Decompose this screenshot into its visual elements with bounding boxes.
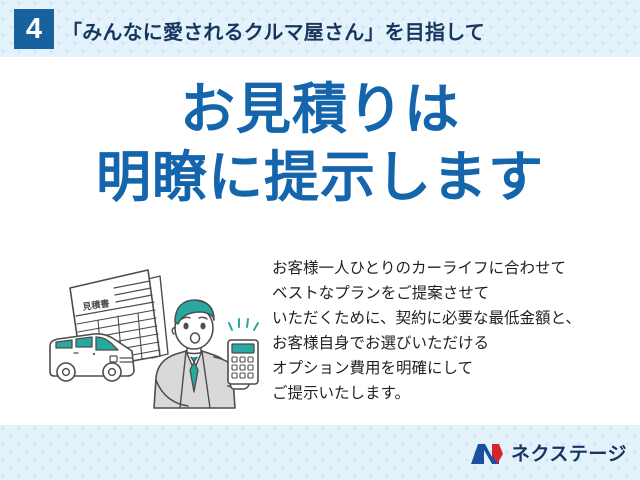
salesman-illustration: 見積書 — [36, 258, 276, 418]
headline-line-2: 明瞭に提示します — [0, 146, 640, 210]
headline-line-1: お見積りは — [0, 78, 640, 142]
banner-page: 4 「みんなに愛されるクルマ屋さん」を目指して お見積りは 明瞭に提示します お… — [0, 0, 640, 480]
page-headline: お見積りは 明瞭に提示します — [0, 78, 640, 210]
header-title: 「みんなに愛されるクルマ屋さん」を目指して — [62, 14, 622, 46]
brand-logo: ネクステージ — [470, 441, 627, 467]
brand-name-label: ネクステージ — [511, 445, 627, 464]
body-copy-line: お客様自身でお選びいただける — [272, 331, 632, 356]
calculator-illustration — [228, 340, 258, 384]
illustration-canvas: 見積書 — [36, 258, 276, 418]
body-copy: お客様一人ひとりのカーライフに合わせて ベストなプランをご提案させて いただくた… — [272, 256, 632, 406]
body-copy-line: いただくために、契約に必要な最低金額と、 — [272, 306, 632, 331]
nextage-n-mark-icon — [470, 442, 504, 466]
section-number-label: 4 — [26, 15, 42, 44]
body-copy-line: お客様一人ひとりのカーライフに合わせて — [272, 256, 632, 281]
section-number-badge: 4 — [14, 9, 54, 49]
body-copy-line: ベストなプランをご提案させて — [272, 281, 632, 306]
body-copy-line: オプション費用を明確にして — [272, 356, 632, 381]
sparkle-marks — [229, 319, 258, 330]
body-copy-line: ご提示いたします。 — [272, 381, 632, 406]
